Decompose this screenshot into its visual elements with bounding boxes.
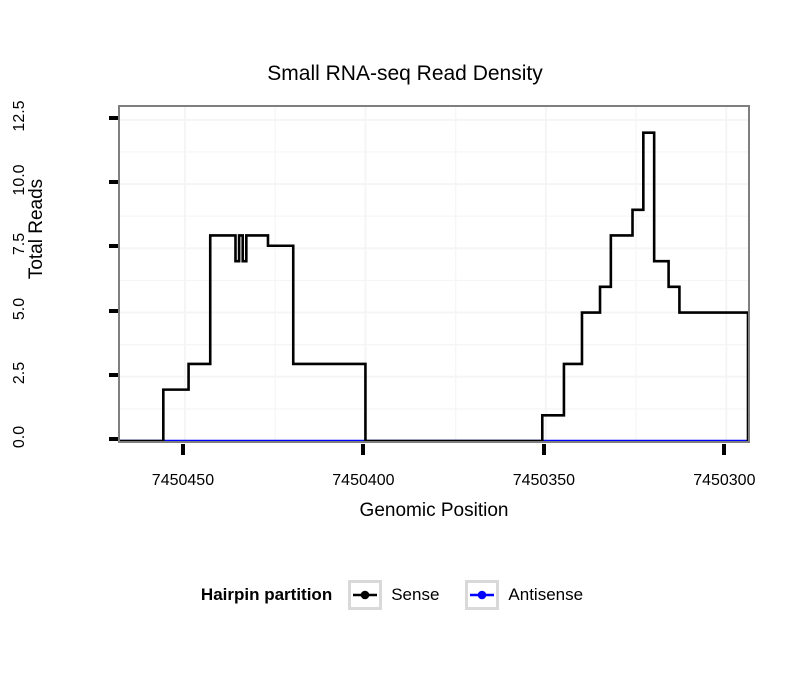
y-tick-mark bbox=[109, 244, 118, 248]
x-axis-label: Genomic Position bbox=[118, 500, 750, 522]
legend-item-antisense[interactable]: Antisense bbox=[465, 580, 599, 610]
y-tick-label: 5.0 bbox=[11, 279, 29, 339]
y-tick-label: 12.5 bbox=[11, 86, 29, 146]
chart-figure: Small RNA-seq Read Density Total Reads 0… bbox=[0, 0, 810, 690]
legend-key-antisense bbox=[465, 580, 499, 610]
chart-legend: Hairpin partition Sense Antisense bbox=[0, 580, 810, 610]
y-tick-mark bbox=[109, 309, 118, 313]
plot-panel bbox=[118, 105, 750, 443]
plot-area-svg bbox=[120, 107, 748, 441]
x-tick-label: 7450450 bbox=[123, 472, 243, 490]
legend-label-antisense: Antisense bbox=[508, 585, 583, 605]
y-tick-mark bbox=[109, 437, 118, 441]
y-tick-mark bbox=[109, 116, 118, 120]
x-tick-mark bbox=[361, 444, 365, 455]
antisense-line-icon bbox=[469, 584, 495, 606]
data-series-layer bbox=[120, 133, 748, 441]
sense-line-icon bbox=[352, 584, 378, 606]
chart-title: Small RNA-seq Read Density bbox=[0, 62, 810, 86]
y-tick-mark bbox=[109, 180, 118, 184]
y-tick-label: 7.5 bbox=[11, 214, 29, 274]
y-axis-label: Total Reads bbox=[26, 129, 48, 329]
legend-item-sense[interactable]: Sense bbox=[348, 580, 455, 610]
series-line-sense bbox=[120, 133, 748, 441]
x-tick-label: 7450300 bbox=[664, 472, 784, 490]
legend-title: Hairpin partition bbox=[201, 585, 332, 605]
x-tick-mark bbox=[181, 444, 185, 455]
legend-label-sense: Sense bbox=[391, 585, 439, 605]
x-tick-mark bbox=[542, 444, 546, 455]
x-tick-mark bbox=[722, 444, 726, 455]
x-tick-label: 7450400 bbox=[303, 472, 423, 490]
x-tick-label: 7450350 bbox=[484, 472, 604, 490]
y-tick-label: 0.0 bbox=[11, 407, 29, 467]
legend-key-sense bbox=[348, 580, 382, 610]
y-tick-mark bbox=[109, 373, 118, 377]
y-tick-label: 2.5 bbox=[11, 343, 29, 403]
y-tick-label: 10.0 bbox=[11, 150, 29, 210]
